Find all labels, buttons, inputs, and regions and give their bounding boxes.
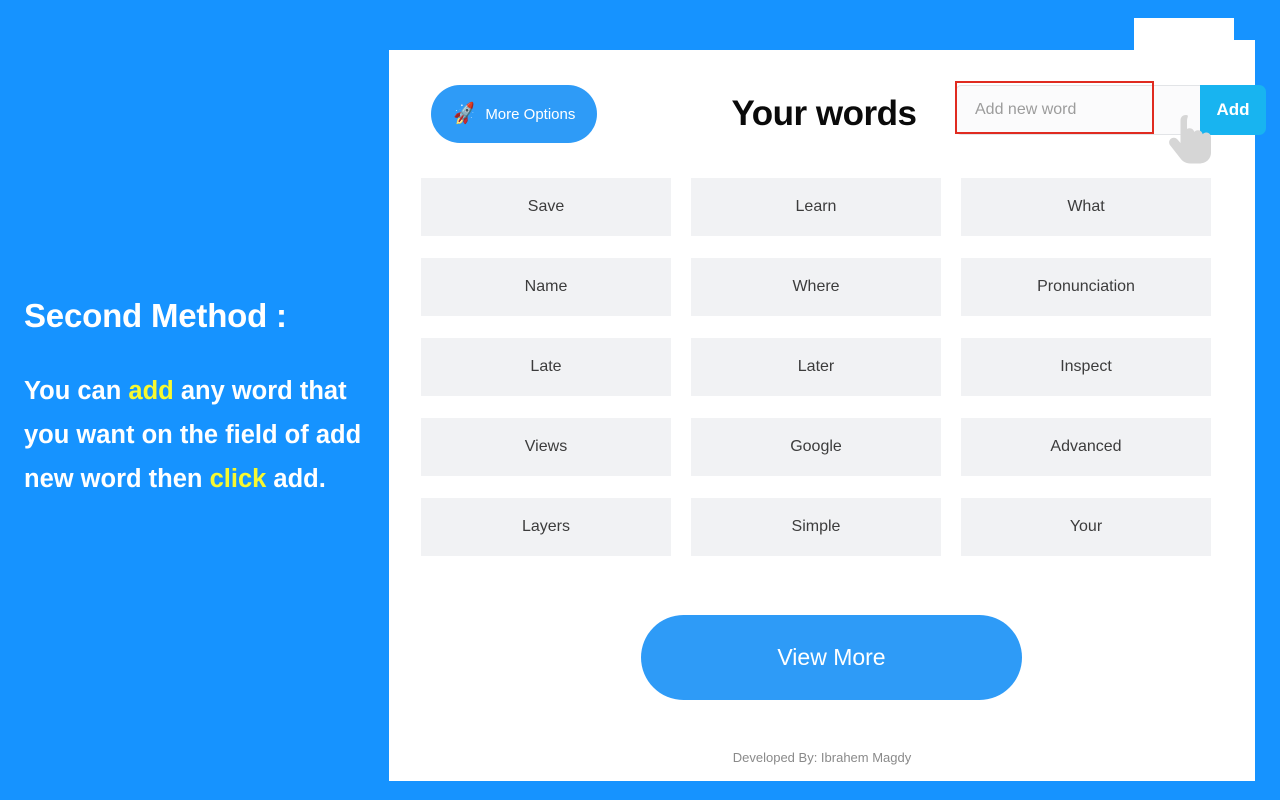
word-cell[interactable]: Layers — [421, 498, 671, 556]
word-grid: Save Learn What Name Where Pronunciation… — [421, 178, 1211, 556]
lesson-body: You can add any word that you want on th… — [24, 370, 364, 502]
add-word-button[interactable]: Add — [1200, 85, 1266, 135]
word-cell[interactable]: Later — [691, 338, 941, 396]
word-cell[interactable]: Learn — [691, 178, 941, 236]
word-cell[interactable]: Advanced — [961, 418, 1211, 476]
word-cell[interactable]: Late — [421, 338, 671, 396]
word-cell[interactable]: What — [961, 178, 1211, 236]
word-cell[interactable]: Inspect — [961, 338, 1211, 396]
view-more-button[interactable]: View More — [641, 615, 1022, 700]
more-options-label: More Options — [485, 106, 575, 123]
lesson-highlight-add: add — [128, 377, 173, 405]
word-cell[interactable]: Views — [421, 418, 671, 476]
lesson-body-part-3: add. — [266, 465, 326, 493]
page-title: Your words — [644, 85, 1004, 143]
lesson-body-part-1: You can — [24, 377, 128, 405]
word-cell[interactable]: Pronunciation — [961, 258, 1211, 316]
word-cell[interactable]: Simple — [691, 498, 941, 556]
instruction-panel: Second Method : You can add any word tha… — [0, 0, 389, 800]
footer-credit: Developed By: Ibrahem Magdy — [389, 750, 1255, 765]
word-cell[interactable]: Google — [691, 418, 941, 476]
lesson-title: Second Method : — [24, 298, 365, 334]
app-top-bar: 🚀 More Options Your words Add — [389, 50, 1255, 150]
word-cell[interactable]: Save — [421, 178, 671, 236]
more-options-button[interactable]: 🚀 More Options — [431, 85, 597, 143]
word-cell[interactable]: Your — [961, 498, 1211, 556]
add-word-input[interactable] — [956, 85, 1200, 135]
rocket-icon: 🚀 — [451, 103, 478, 126]
add-word-group: Add — [956, 85, 1224, 135]
word-cell[interactable]: Name — [421, 258, 671, 316]
word-cell[interactable]: Where — [691, 258, 941, 316]
lesson-highlight-click: click — [210, 465, 267, 493]
